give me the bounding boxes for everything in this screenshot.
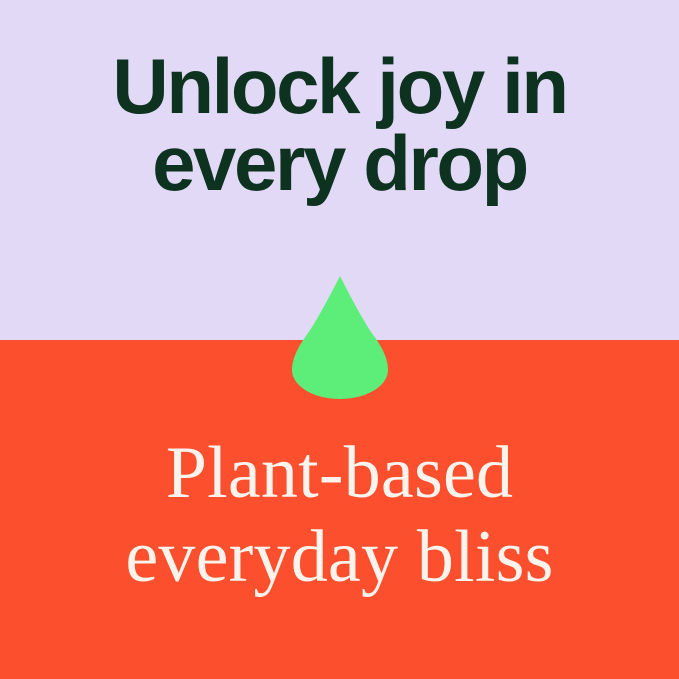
headline-line-2: every drop <box>0 125 679 202</box>
headline-line-1: Unlock joy in <box>0 48 679 125</box>
headline: Unlock joy in every drop <box>0 48 679 202</box>
subhead-line-2: everyday bliss <box>0 516 679 600</box>
subhead: Plant-based everyday bliss <box>0 432 679 599</box>
water-droplet-icon <box>292 276 388 399</box>
droplet-shape <box>292 276 388 399</box>
subhead-line-1: Plant-based <box>0 432 679 516</box>
promo-poster: Unlock joy in every drop Plant-based eve… <box>0 0 679 679</box>
